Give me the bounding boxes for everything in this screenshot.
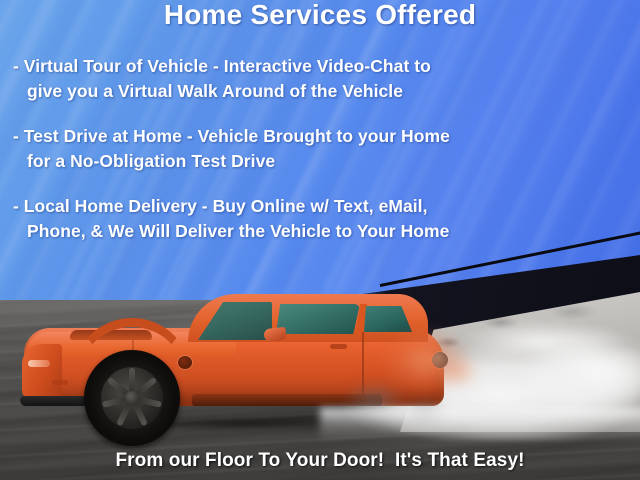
- service-line-1: - Virtual Tour of Vehicle - Interactive …: [13, 56, 431, 76]
- home-services-promo-banner: Home Services Offered - Virtual Tour of …: [0, 0, 640, 480]
- services-list: - Virtual Tour of Vehicle - Interactive …: [13, 54, 627, 264]
- service-item-virtual-tour: - Virtual Tour of Vehicle - Interactive …: [13, 54, 627, 104]
- service-line-2: Phone, & We Will Deliver the Vehicle to …: [13, 219, 627, 244]
- page-title: Home Services Offered: [0, 0, 640, 31]
- service-line-1: - Test Drive at Home - Vehicle Brought t…: [13, 126, 450, 146]
- service-line-2: for a No-Obligation Test Drive: [13, 149, 627, 174]
- service-line-1: - Local Home Delivery - Buy Online w/ Te…: [13, 196, 428, 216]
- service-item-local-home-delivery: - Local Home Delivery - Buy Online w/ Te…: [13, 194, 627, 244]
- service-line-2: give you a Virtual Walk Around of the Ve…: [13, 79, 627, 104]
- tagline: From our Floor To Your Door! It's That E…: [0, 450, 640, 472]
- text-overlay: Home Services Offered - Virtual Tour of …: [0, 0, 640, 480]
- service-item-test-drive-at-home: - Test Drive at Home - Vehicle Brought t…: [13, 124, 627, 174]
